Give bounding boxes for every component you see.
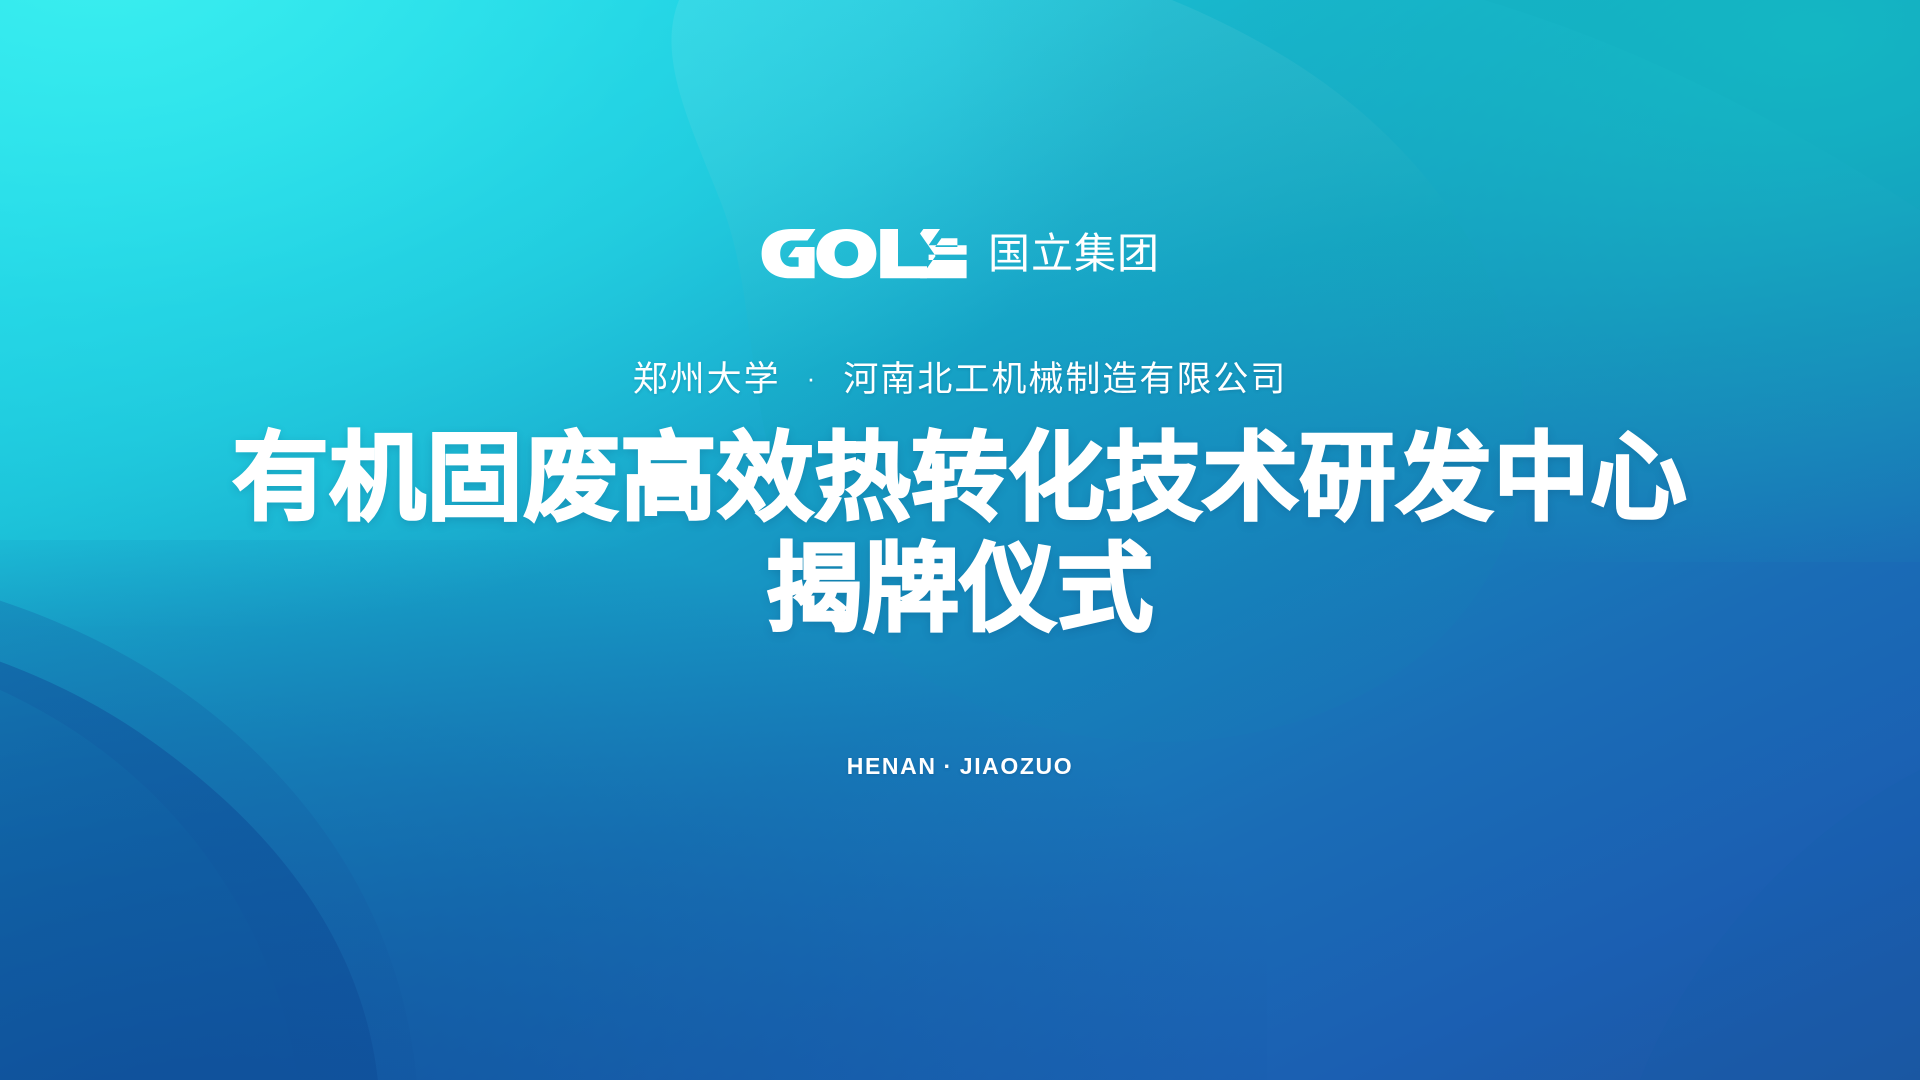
location-separator: · [937,753,960,779]
location-city: JIAOZUO [960,753,1073,779]
organizations-separator: · [781,363,844,393]
organization-secondary: 河南北工机械制造有限公司 [843,360,1287,399]
organization-primary: 郑州大学 [633,360,781,399]
slide-content: 国立集团 郑州大学·河南北工机械制造有限公司 有机固废高效热转化技术研发中心 揭… [0,0,1920,1080]
svg-text:国立集团: 国立集团 [988,232,1160,276]
page-title: 有机固废高效热转化技术研发中心 揭牌仪式 [233,423,1688,646]
location-line: HENAN·JIAOZUO [847,753,1073,780]
gole-wordmark-logo [760,229,968,279]
page-title-line-1: 有机固废高效热转化技术研发中心 [233,423,1688,534]
brand-chinese-name: 国立集团 [988,232,1160,276]
location-province: HENAN [847,753,937,779]
title-slide: 国立集团 郑州大学·河南北工机械制造有限公司 有机固废高效热转化技术研发中心 揭… [0,0,1920,1080]
organizations-line: 郑州大学·河南北工机械制造有限公司 [633,362,1288,397]
page-title-line-2: 揭牌仪式 [233,534,1688,645]
brand-logo-lockup: 国立集团 [760,228,1160,280]
